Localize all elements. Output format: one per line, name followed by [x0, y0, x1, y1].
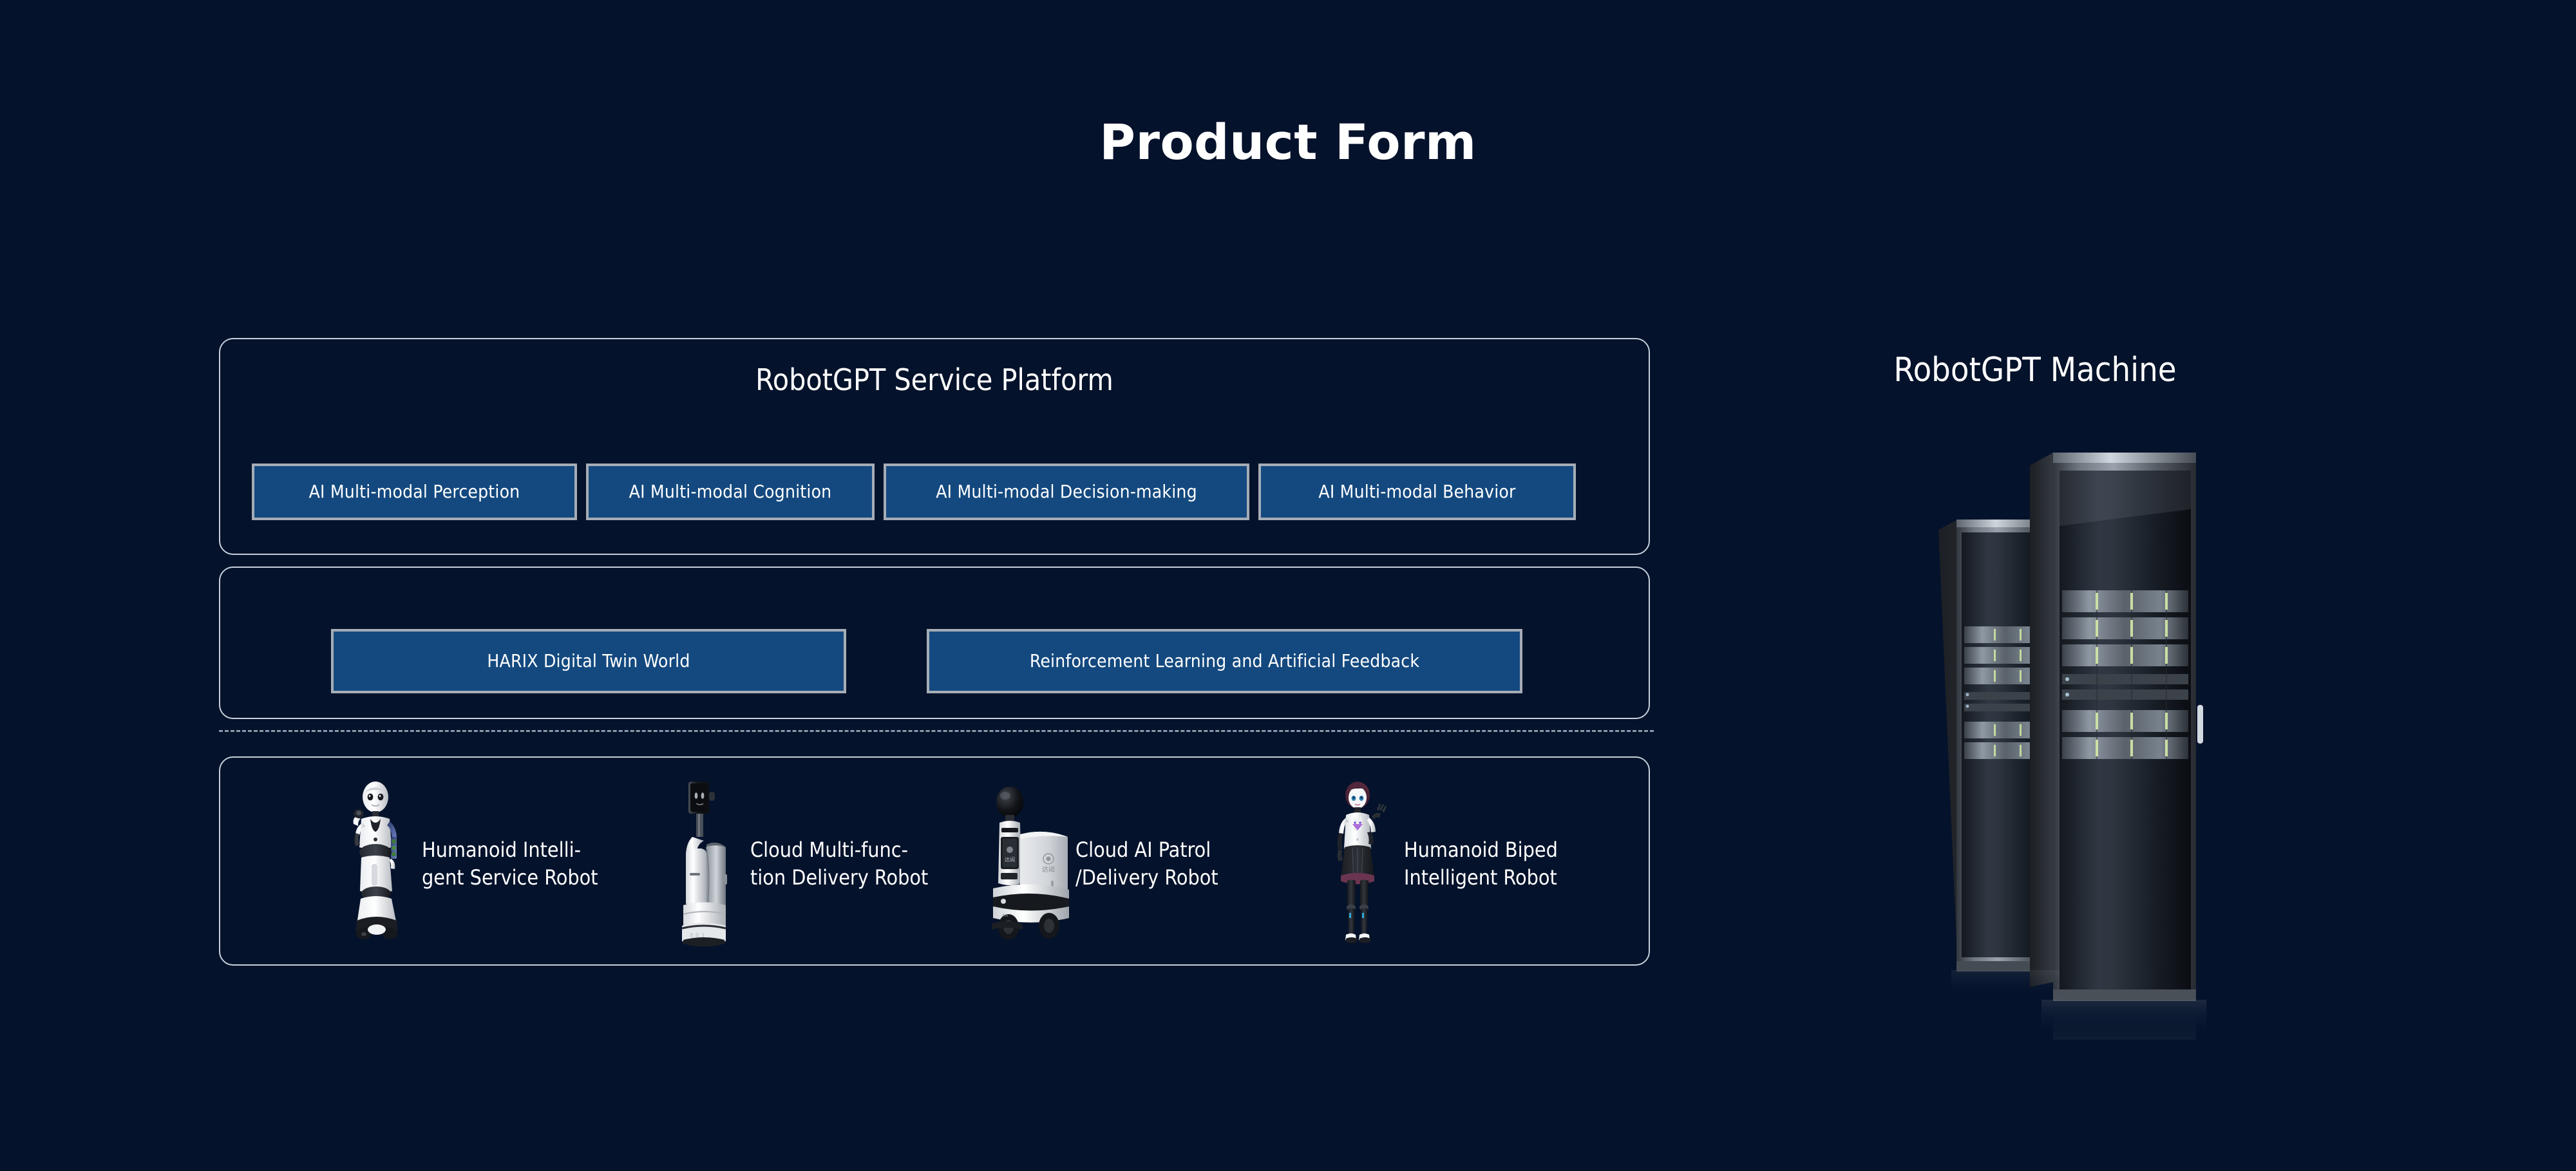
robot-label-humanoid-service: Humanoid Intelli- gent Service Robot: [422, 836, 598, 892]
robot-item-biped-humanoid[interactable]: Humanoid Biped Intelligent Robot: [1315, 777, 1558, 951]
engine-panel: HARIX Digital Twin World Reinforcement L…: [219, 567, 1650, 719]
capability-chip-decision-making[interactable]: AI Multi-modal Decision-making: [884, 464, 1249, 520]
page-title: Product Form: [0, 113, 2576, 171]
capability-chip-behavior[interactable]: AI Multi-modal Behavior: [1258, 464, 1576, 520]
robot-label-patrol-vehicle: Cloud AI Patrol /Delivery Robot: [1075, 836, 1218, 892]
capability-chip-perception[interactable]: AI Multi-modal Perception: [252, 464, 577, 520]
humanoid-service-robot-icon: [333, 778, 418, 950]
robot-label-biped-humanoid: Humanoid Biped Intelligent Robot: [1404, 836, 1558, 892]
server-rack-right: [2030, 453, 2203, 1001]
platform-panel-title: RobotGPT Service Platform: [220, 362, 1649, 397]
module-chip-harix-digital-twin[interactable]: HARIX Digital Twin World: [331, 629, 846, 693]
module-chip-reinforcement-learning[interactable]: Reinforcement Learning and Artificial Fe…: [927, 629, 1522, 693]
section-divider: [219, 730, 1654, 732]
robot-label-cloud-delivery: Cloud Multi-func- tion Delivery Robot: [750, 836, 928, 892]
slide-canvas: Product Form RobotGPT Service Platform A…: [0, 0, 2576, 1171]
biped-humanoid-robot-icon: [1315, 778, 1400, 950]
svg-text:达闼: 达闼: [1042, 865, 1055, 874]
machine-section-title: RobotGPT Machine: [1777, 351, 2293, 389]
server-rack-icon: [1906, 422, 2241, 1040]
robot-item-patrol-vehicle[interactable]: 达闼 达闼: [987, 777, 1218, 951]
svg-text:ʌʌ: ʌʌ: [1002, 912, 1009, 918]
platform-panel: RobotGPT Service Platform AI Multi-modal…: [219, 338, 1650, 555]
robots-panel: Humanoid Intelli- gent Service Robot: [219, 756, 1650, 966]
patrol-vehicle-robot-icon: 达闼 达闼: [987, 778, 1072, 950]
capability-chip-cognition[interactable]: AI Multi-modal Cognition: [586, 464, 875, 520]
cloud-delivery-robot-icon: 8 8 3: [661, 778, 746, 950]
robot-item-humanoid-service[interactable]: Humanoid Intelli- gent Service Robot: [333, 777, 598, 951]
svg-text:达闼: 达闼: [1005, 856, 1015, 863]
robot-item-cloud-delivery[interactable]: 8 8 3 Cloud Multi-func- tion Delivery Ro…: [661, 777, 928, 951]
